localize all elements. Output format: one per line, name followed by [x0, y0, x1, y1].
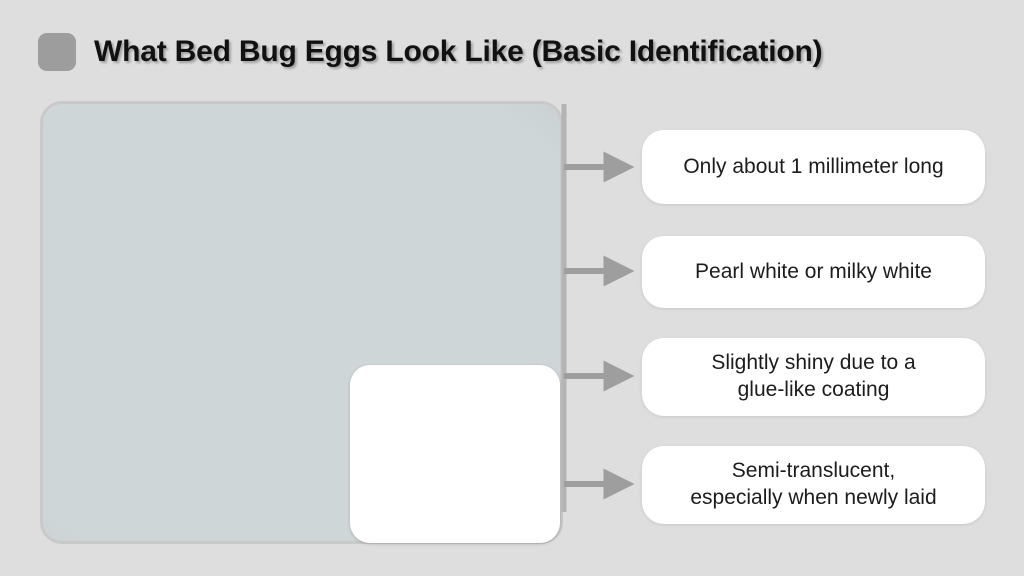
fact-card-2: Pearl white or milky white — [642, 236, 985, 308]
fact-card-2-label: Pearl white or milky white — [695, 259, 932, 286]
title-bullet-icon — [38, 33, 76, 71]
fact-card-1: Only about 1 millimeter long — [642, 130, 985, 204]
fact-card-4-label: Semi-translucent,especially when newly l… — [690, 458, 936, 512]
fact-card-3: Slightly shiny due to aglue-like coating — [642, 338, 985, 416]
slide-title-row: What Bed Bug Eggs Look Like (Basic Ident… — [38, 30, 822, 74]
fact-card-3-label: Slightly shiny due to aglue-like coating — [711, 350, 915, 404]
adult-bed-bug-inset-photo — [350, 365, 560, 543]
fact-card-1-label: Only about 1 millimeter long — [683, 154, 943, 181]
fact-card-4: Semi-translucent,especially when newly l… — [642, 446, 985, 524]
adult-bed-bug-photo-content — [357, 372, 553, 536]
page-title: What Bed Bug Eggs Look Like (Basic Ident… — [94, 35, 822, 69]
